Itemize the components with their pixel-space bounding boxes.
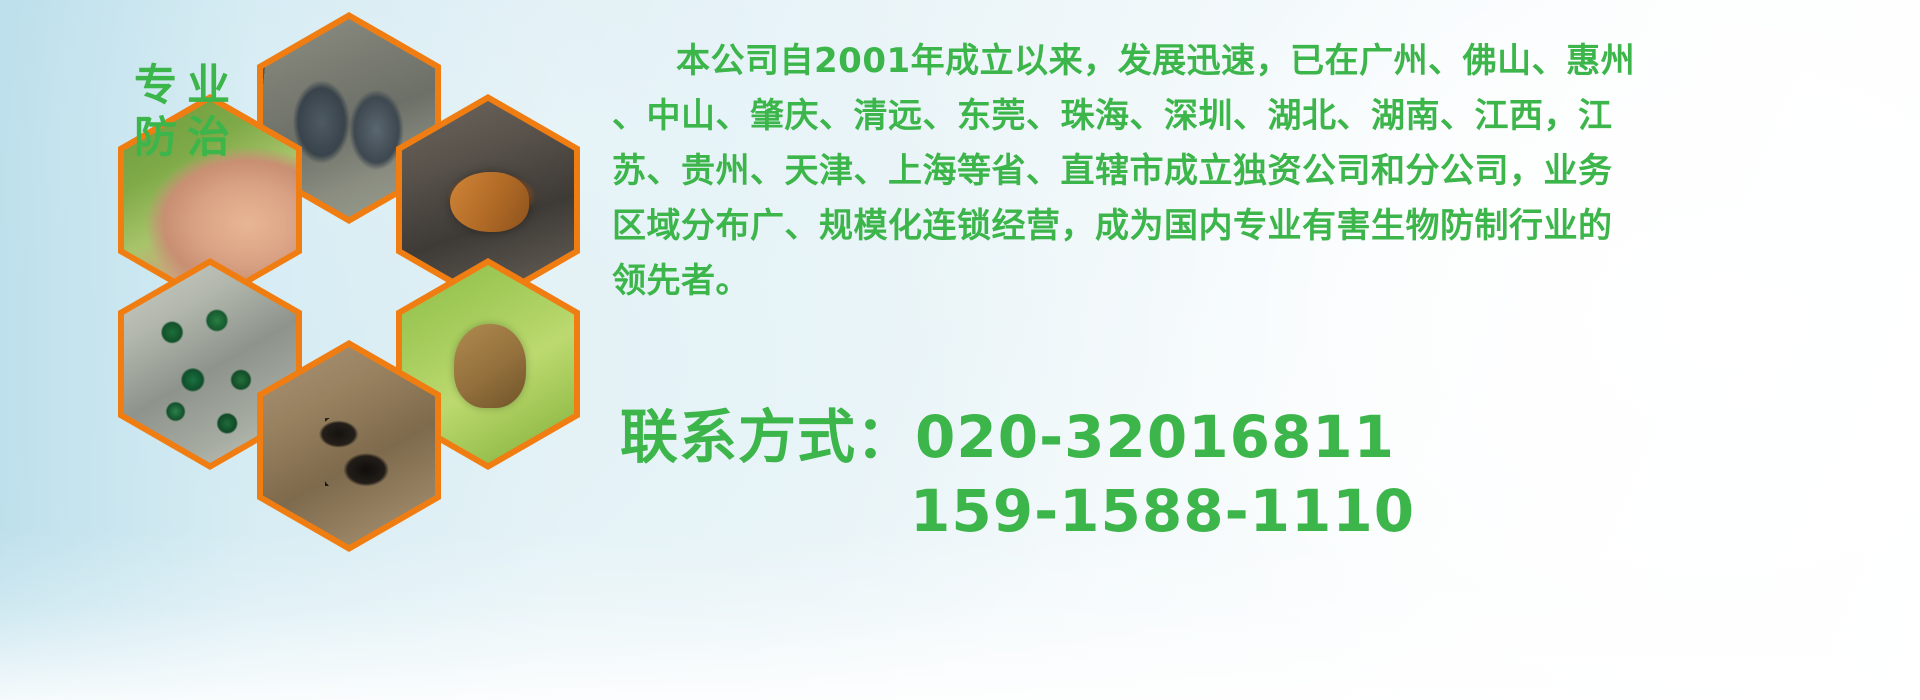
intro-line-2: 、中山、肇庆、清远、东莞、珠海、深圳、湖北、湖南、江西，江 (612, 89, 1892, 144)
contact-secondary-line: 159-1588-1110 (620, 474, 1900, 548)
contact-primary-line: 联系方式：020-32016811 (620, 400, 1900, 474)
intro-line-4: 区域分布广、规模化连锁经营，成为国内专业有害生物防制行业的 (612, 199, 1892, 254)
intro-line-1: 本公司自2001年成立以来，发展迅速，已在广州、佛山、惠州 (612, 34, 1892, 89)
honeycomb-photo-cluster: 专业 防治 (90, 6, 590, 566)
contact-phone-mobile[interactable]: 159-1588-1110 (910, 477, 1415, 545)
promo-banner: 专业 防治 本公司自2001年成立以来，发展迅速，已在广州、佛山、惠州 、中山、… (0, 0, 1920, 700)
hex-photo-ant-frame (263, 347, 435, 545)
badge-line-2: 防治 (124, 115, 240, 161)
contact-block: 联系方式：020-32016811 159-1588-1110 (620, 400, 1900, 548)
intro-paragraph: 本公司自2001年成立以来，发展迅速，已在广州、佛山、惠州 、中山、肇庆、清远、… (612, 34, 1892, 309)
intro-line-5: 领先者。 (612, 254, 1892, 309)
contact-phone-landline[interactable]: 020-32016811 (915, 403, 1395, 471)
copy-column: 本公司自2001年成立以来，发展迅速，已在广州、佛山、惠州 、中山、肇庆、清远、… (612, 34, 1892, 309)
ant-photo (263, 347, 435, 545)
contact-label: 联系方式： (620, 403, 915, 471)
badge-line-1: 专业 (124, 63, 240, 109)
intro-line-3: 苏、贵州、天津、上海等省、直辖市成立独资公司和分公司，业务 (612, 144, 1892, 199)
hex-badge-text: 专业 防治 (90, 6, 274, 218)
